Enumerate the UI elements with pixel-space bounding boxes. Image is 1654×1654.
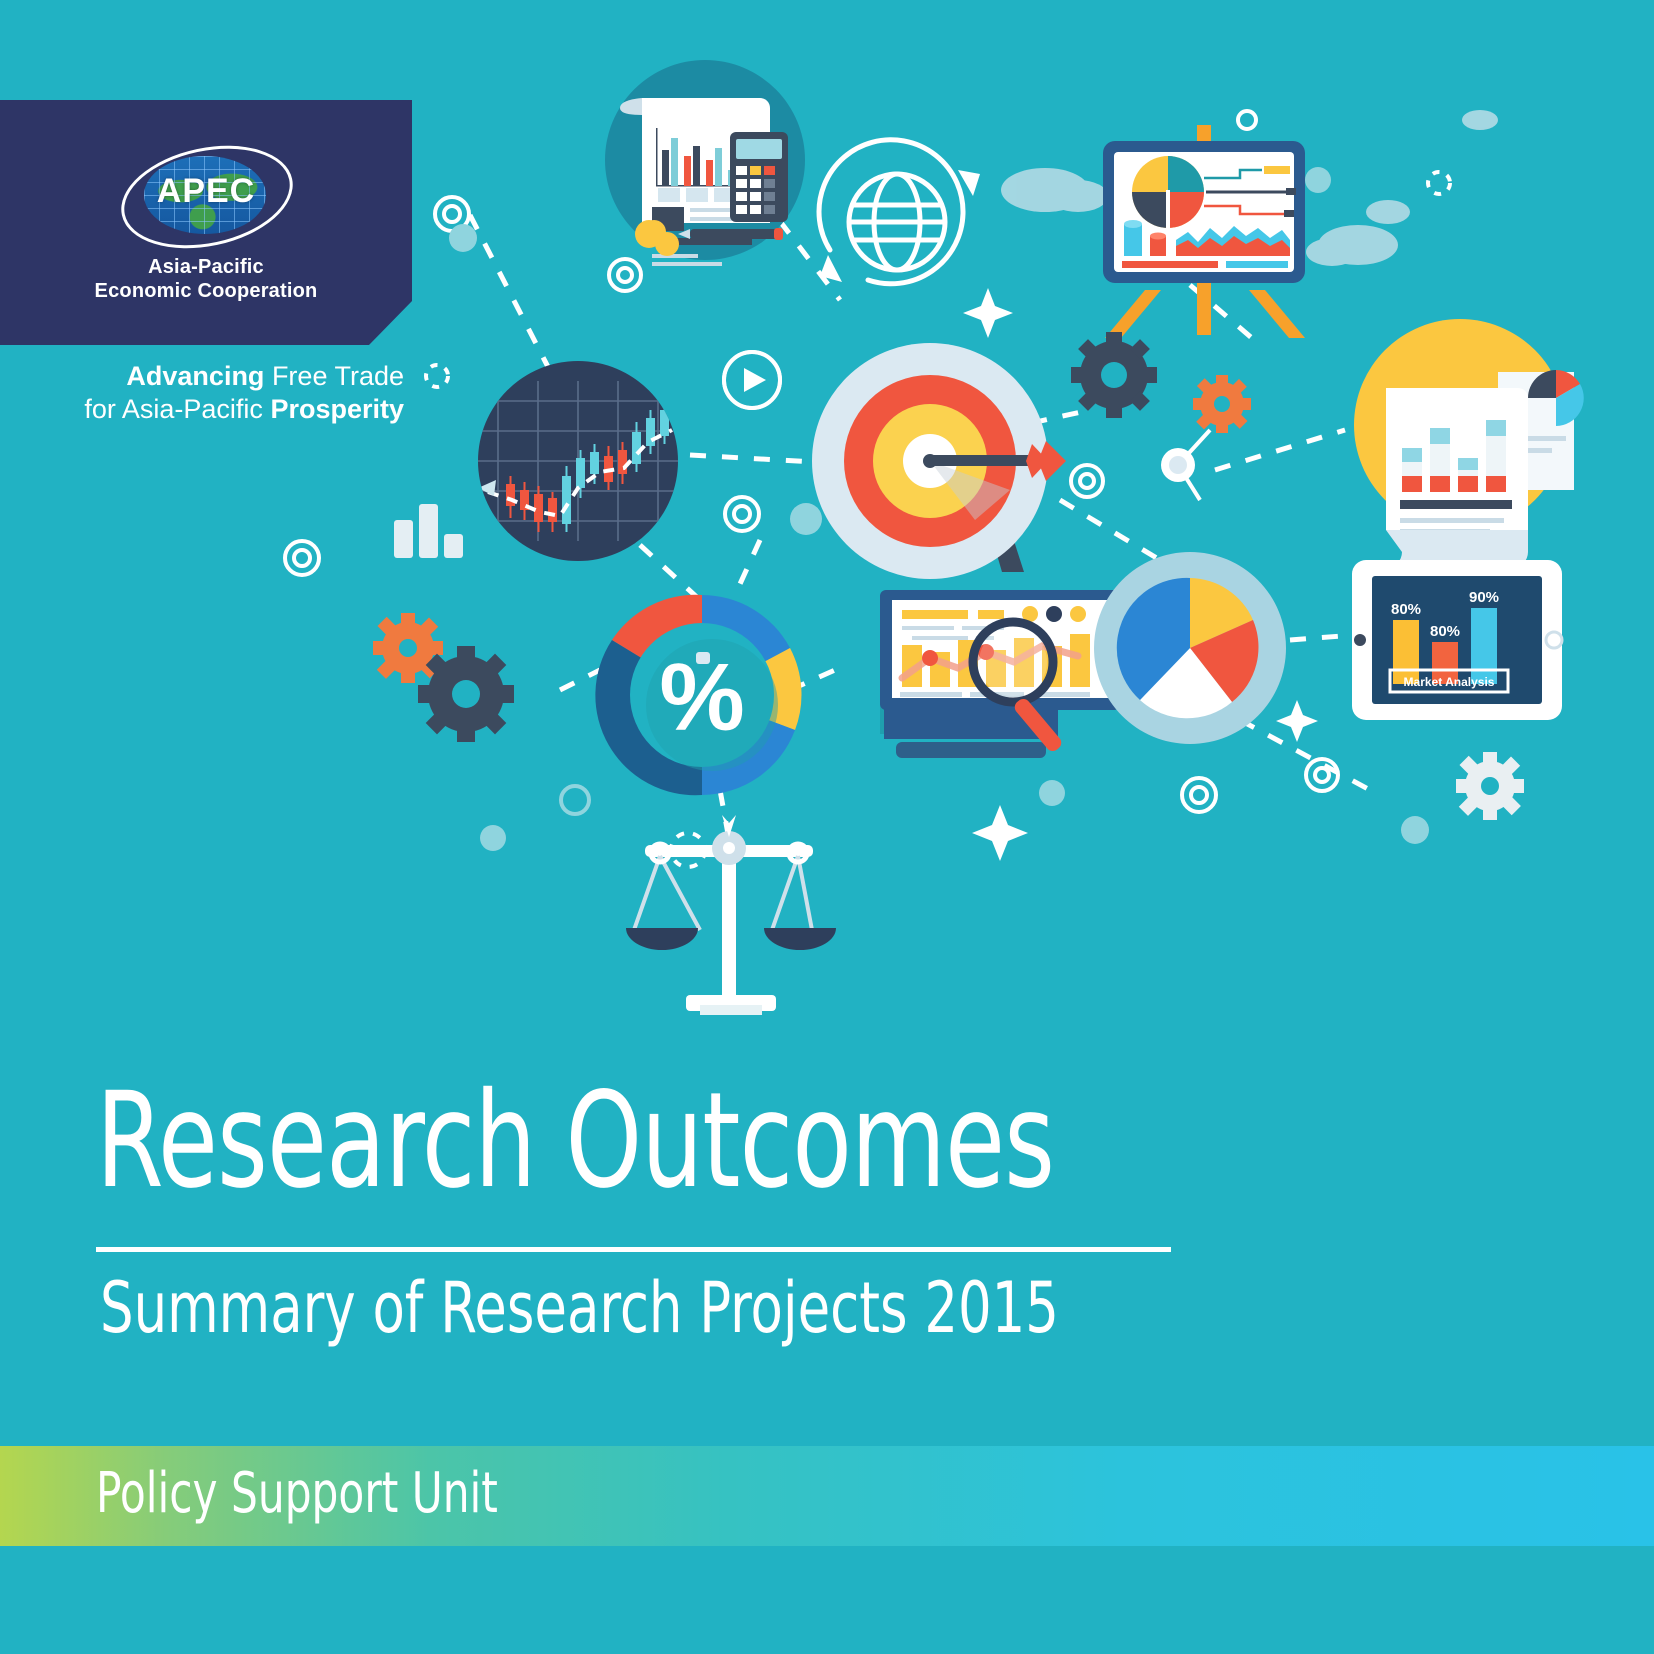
cover-page: .dash{stroke:#ffffff;stroke-width:5;stro… xyxy=(0,0,1654,1654)
gears-cluster xyxy=(1071,332,1251,500)
gear-dark xyxy=(1071,332,1157,418)
tagline-line-1: Advancing Free Trade xyxy=(0,360,404,393)
pie-slices xyxy=(1117,578,1259,718)
apec-acronym: APEC xyxy=(120,172,292,211)
easel-legs xyxy=(1105,280,1305,338)
gear-right xyxy=(1456,752,1524,820)
scroll-documents-chart xyxy=(1354,319,1584,568)
apec-name-line2: Economic Cooperation xyxy=(95,280,318,303)
report-with-calculator xyxy=(605,60,805,266)
page-title: Research Outcomes xyxy=(96,1075,1293,1207)
policy-support-unit-label: Policy Support Unit xyxy=(96,1466,498,1522)
play-button-icon xyxy=(724,352,780,408)
apec-name-line1: Asia-Pacific xyxy=(95,256,318,279)
bullseye-target-with-arrow xyxy=(812,343,1066,579)
apec-tagline: Advancing Free Trade for Asia-Pacific Pr… xyxy=(0,360,412,426)
gears-left xyxy=(373,613,514,742)
tablet-bar-label-3: 90% xyxy=(1469,589,1499,606)
candlestick-chart-circle xyxy=(478,361,678,561)
balance-scales xyxy=(626,815,836,1015)
monitor-dashboard-magnifier xyxy=(880,590,1120,758)
arrow-fletching xyxy=(1026,441,1066,481)
apec-logo-inner: APEC Asia-Pacific Economic Cooperation xyxy=(0,100,412,345)
title-area: Research Outcomes Summary of Research Pr… xyxy=(96,1075,1556,1207)
page-subtitle: Summary of Research Projects 2015 xyxy=(100,1273,1059,1343)
percent-donut-chart: % xyxy=(595,595,801,795)
tablet-bar-label-1: 80% xyxy=(1391,601,1421,618)
pen-icon xyxy=(678,228,783,240)
easel-pie xyxy=(1132,156,1204,228)
apec-name: Asia-Pacific Economic Cooperation xyxy=(95,256,318,302)
tablet-bar-label-2: 80% xyxy=(1430,623,1460,640)
tagline-bold-prosperity: Prosperity xyxy=(270,394,404,424)
globe-rotation-icon xyxy=(819,140,963,284)
node-link-icon xyxy=(1161,430,1210,500)
tablet-market-analysis: 80% 80% 90% Market Analysis xyxy=(1352,560,1562,720)
tagline-line-2: for Asia-Pacific Prosperity xyxy=(0,393,404,426)
tagline-rest-2: for Asia-Pacific xyxy=(84,394,270,424)
tablet-caption: Market Analysis xyxy=(1404,675,1495,689)
apec-logo-block: APEC Asia-Pacific Economic Cooperation xyxy=(0,100,412,345)
apec-globe-icon: APEC xyxy=(120,142,292,250)
gear-orange xyxy=(1193,375,1251,433)
tagline-bold-advancing: Advancing xyxy=(126,361,264,391)
pie-chart-sphere xyxy=(1094,552,1286,744)
title-divider xyxy=(96,1247,1171,1252)
calculator-icon xyxy=(730,132,788,222)
presentation-easel-chart xyxy=(1103,125,1305,338)
mini-bar-chart-icon xyxy=(394,504,463,558)
tagline-rest-1: Free Trade xyxy=(264,361,404,391)
